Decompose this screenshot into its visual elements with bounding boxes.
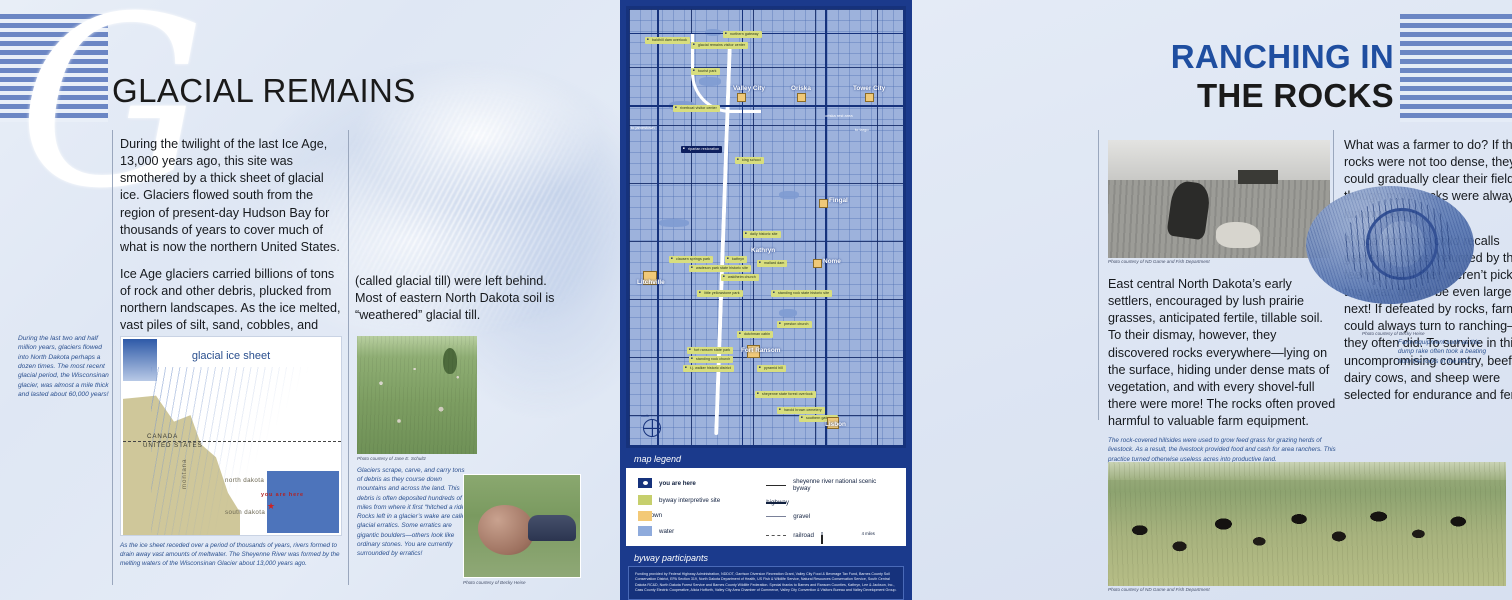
map-tag[interactable]: riverboat visitor center <box>673 105 720 112</box>
byway-map[interactable]: baldhill dam overlook northern gateway g… <box>626 6 906 448</box>
participants-text: Funding provided by Federal Highway Admi… <box>628 566 904 600</box>
city-label-nome: Nome <box>823 258 841 265</box>
interpretive-panel-board: G GLACIAL REMAINS During the twilight of… <box>0 0 1512 600</box>
label-canada: CANADA <box>147 433 178 440</box>
center-panel-map: baldhill dam overlook northern gateway g… <box>620 0 912 600</box>
city-label-valley-city: Valley City <box>733 85 765 92</box>
lake-shape <box>659 219 689 227</box>
photo-credit-rake: Photo courtesy of Becky Heise <box>1362 331 1452 336</box>
wagon-shape <box>1238 170 1278 184</box>
caption-ice-sheet-map: As the ice sheet receded over a period o… <box>120 541 350 568</box>
car-shape <box>528 515 576 541</box>
city-label-kathryn: Kathryn <box>751 247 775 254</box>
legend-item: railroad 0 4 miles <box>766 527 894 543</box>
city-label-fingal: Fingal <box>829 197 848 204</box>
right-body-column-1: East central North Dakota’s early settle… <box>1108 276 1336 430</box>
label-north-dakota: north dakota <box>225 477 264 484</box>
map-note-to-jamestown: to jamestown <box>631 125 655 130</box>
map-tag[interactable]: pyramid hill <box>757 365 786 372</box>
paragraph: East central North Dakota’s early settle… <box>1108 276 1336 430</box>
label-montana: montana <box>181 459 188 489</box>
map-tag[interactable]: little yellowstone park <box>697 290 743 297</box>
city-label-tower-city: Tower City <box>853 85 885 92</box>
legend-item: water <box>638 526 766 536</box>
you-are-here-icon <box>638 478 652 488</box>
map-tag[interactable]: preston church <box>777 321 812 328</box>
left-panel-glacial-remains: G GLACIAL REMAINS During the twilight of… <box>0 0 620 600</box>
photo-credit-farmer: Photo courtesy of ND Game and Fish Depar… <box>1108 259 1210 264</box>
column-divider-right-1 <box>1098 130 1099 420</box>
city-label-oriska: Oriska <box>791 85 811 92</box>
star-marker-icon: ★ <box>267 501 275 512</box>
great-lakes-shape <box>267 471 339 533</box>
legend-label: you are here <box>659 480 696 487</box>
city-swatch-icon <box>638 511 652 521</box>
sidenote-glacier-facts: During the last two and half million yea… <box>18 334 114 400</box>
legend-label: railroad <box>793 532 814 539</box>
city-marker <box>819 199 828 208</box>
title-line-1: RANCHING IN <box>1171 38 1394 75</box>
figure-boulder-photo <box>463 474 581 578</box>
photo-credit-cattle: Photo courtesy of ND Game and Fish Depar… <box>1108 587 1210 592</box>
photo-credit-boulder: Photo courtesy of Becky Heise <box>463 580 526 585</box>
map-tag[interactable]: clausen springs park <box>669 256 713 263</box>
map-note-to-fargo: to fargo <box>855 127 869 132</box>
horizon-region <box>1108 462 1506 480</box>
legend-heading: map legend <box>634 454 906 464</box>
map-tag[interactable]: t.j. walker historic district <box>683 365 734 372</box>
label-united-states: UNITED STATES <box>143 442 203 449</box>
city-label-lisbon: Lisbon <box>825 421 846 428</box>
map-tag[interactable]: glacial remains visitor center <box>691 42 748 49</box>
map-township-grid <box>629 9 903 445</box>
figure-dump-rake-photo <box>1306 186 1474 304</box>
legend-label: byway interpretive site <box>659 497 720 504</box>
byway-site-swatch-icon <box>638 495 652 505</box>
map-tag[interactable]: king school <box>735 157 764 164</box>
map-tag[interactable]: baldhill dam overlook <box>645 37 690 44</box>
stripe-motif-right <box>1400 14 1512 122</box>
highway-line <box>742 9 743 445</box>
legend-item: byway interpretive site <box>638 495 766 505</box>
participants-heading: byway participants <box>634 553 906 563</box>
scale-bar: 0 4 miles <box>821 531 875 543</box>
highway-line-icon <box>766 502 786 504</box>
map-tag[interactable]: dutchman cabin <box>737 331 773 338</box>
railroad-line-icon <box>766 535 786 536</box>
tree-shape <box>443 348 457 374</box>
water-swatch-icon <box>638 526 652 536</box>
map-tag[interactable]: standing rock church <box>689 356 733 363</box>
legend-item: city/town <box>638 512 766 519</box>
figure-farmer-clearing-rocks <box>1108 140 1330 258</box>
compass-rose-icon <box>643 419 661 437</box>
lake-shape <box>779 309 797 317</box>
map-tag[interactable]: standing rock state historic site <box>771 290 832 297</box>
map-legend: you are here byway interpretive site cit… <box>626 468 906 546</box>
legend-column-lines: sheyenne river national scenic byway hig… <box>766 478 894 536</box>
city-marker <box>865 93 874 102</box>
paragraph: During the twilight of the last Ice Age,… <box>120 136 342 256</box>
rock-shape <box>1216 222 1260 248</box>
map-tag[interactable]: northern gateway <box>723 31 762 38</box>
map-tag[interactable]: waldheim church <box>721 274 759 281</box>
city-marker <box>797 93 806 102</box>
boulder-shape <box>478 505 534 555</box>
highway-line <box>629 105 903 107</box>
compass-north-label: north <box>641 414 649 418</box>
map-figure-title: glacial ice sheet <box>121 350 341 362</box>
scenic-byway-line-icon <box>766 483 786 488</box>
scale-bar-graphic <box>821 535 823 544</box>
field-region <box>1108 180 1330 258</box>
highway-line <box>825 9 827 445</box>
photo-credit-grass: Photo courtesy of Jane E. Schultz <box>357 456 426 461</box>
title-line-2: THE ROCKS <box>1197 77 1394 114</box>
map-tag[interactable]: fort ransom state park <box>687 347 733 354</box>
lake-shape <box>779 191 799 199</box>
map-note-oriska-rest-area: oriska rest area <box>825 113 853 118</box>
scale-max-label: 4 miles <box>862 531 875 536</box>
rake-wheel-shape <box>1366 208 1438 280</box>
city-label-litchville: Litchville <box>637 279 665 286</box>
page-title-right: RANCHING IN THE ROCKS <box>1171 38 1394 116</box>
map-tag[interactable]: mallard dam <box>757 260 787 267</box>
caption-glacial-erratics: Glaciers scrape, carve, and carry tons o… <box>357 466 469 558</box>
figure-glacial-ice-sheet-map: glacial ice sheet CANADA UNITED STATES n… <box>120 336 342 536</box>
label-you-are-here: you are here <box>261 492 304 498</box>
legend-item: highway <box>766 499 894 506</box>
map-tag[interactable]: tourist park <box>691 68 720 75</box>
legend-label: water <box>659 528 674 535</box>
legend-label: sheyenne river national scenic byway <box>793 478 894 492</box>
highway-line <box>657 9 659 445</box>
map-tag[interactable]: wadeson park state historic site <box>689 265 751 272</box>
map-tag[interactable]: sheyenne state forest overlook <box>755 391 816 398</box>
column-divider-left-2 <box>348 130 349 585</box>
legend-item: gravel <box>766 513 894 520</box>
highway-line <box>629 33 903 34</box>
caption-rock-covered-hillsides: The rock-covered hillsides were used to … <box>1108 436 1340 464</box>
right-panel-ranching-in-the-rocks: RANCHING IN THE ROCKS Photo courtesy of … <box>912 0 1512 600</box>
city-label-fort-ransom: Fort Ransom <box>741 347 780 354</box>
figure-cattle-grazing-photo <box>1108 462 1506 586</box>
city-marker <box>813 259 822 268</box>
map-tag[interactable]: kathryn <box>725 256 747 263</box>
legend-item: sheyenne river national scenic byway <box>766 478 894 492</box>
left-body-column-1: During the twilight of the last Ice Age,… <box>120 136 342 352</box>
gravel-line-icon <box>766 516 786 517</box>
left-body-column-2: (called glacial till) were left behind. … <box>355 273 565 324</box>
paragraph: (called glacial till) were left behind. … <box>355 273 565 324</box>
legend-column-symbols: you are here byway interpretive site cit… <box>638 478 766 536</box>
label-south-dakota: south dakota <box>225 509 265 516</box>
map-tag[interactable]: harold brown cemetery <box>777 407 825 414</box>
sky-region <box>1108 140 1330 180</box>
legend-item: you are here <box>638 478 766 488</box>
map-tag[interactable]: daily historic site <box>743 231 781 238</box>
city-marker <box>737 93 746 102</box>
caption-farm-equipment: Farm equipment such as this dump rake of… <box>1398 338 1490 366</box>
legend-label: gravel <box>793 513 810 520</box>
map-tag[interactable]: riparian restoration <box>681 146 722 153</box>
figure-prairie-rocks-photo <box>357 336 477 454</box>
page-title-left: GLACIAL REMAINS <box>112 72 416 110</box>
